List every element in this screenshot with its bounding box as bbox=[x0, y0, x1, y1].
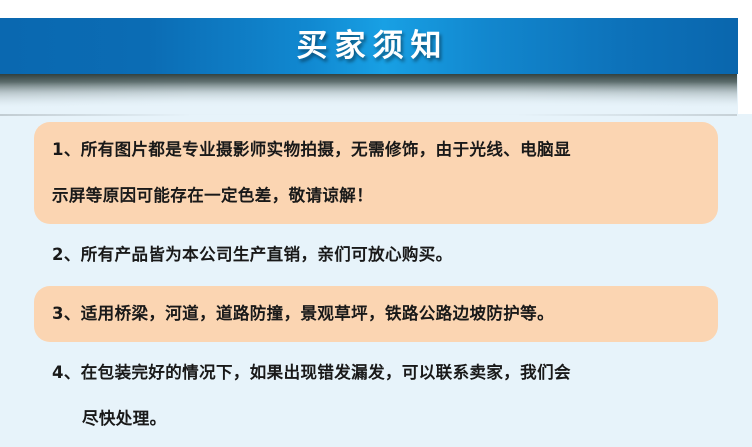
notice-list: 1、所有图片都是专业摄影师实物拍摄，无需修饰，由于光线、电脑显 示屏等原因可能存… bbox=[0, 122, 752, 447]
banner-shadow-fade bbox=[0, 82, 752, 114]
page-title: 买家须知 bbox=[0, 18, 738, 74]
notice-item-1-line-2: 示屏等原因可能存在一定色差，敬请谅解！ bbox=[52, 173, 700, 219]
notice-item-2: 2、所有产品皆为本公司生产直销，亲们可放心购买。 bbox=[34, 227, 718, 283]
buyer-notice-page: 买家须知 1、所有图片都是专业摄影师实物拍摄，无需修饰，由于光线、电脑显 示屏等… bbox=[0, 0, 752, 447]
notice-item-1: 1、所有图片都是专业摄影师实物拍摄，无需修饰，由于光线、电脑显 示屏等原因可能存… bbox=[34, 122, 718, 224]
notice-item-2-line-1: 2、所有产品皆为本公司生产直销，亲们可放心购买。 bbox=[52, 232, 700, 278]
notice-item-1-line-1: 1、所有图片都是专业摄影师实物拍摄，无需修饰，由于光线、电脑显 bbox=[52, 127, 700, 173]
header-banner: 买家须知 bbox=[0, 18, 738, 74]
notice-item-3: 3、适用桥梁，河道，道路防撞，景观草坪，铁路公路边坡防护等。 bbox=[34, 286, 718, 342]
notice-item-3-line-1: 3、适用桥梁，河道，道路防撞，景观草坪，铁路公路边坡防护等。 bbox=[52, 291, 700, 337]
notice-item-4-line-2: 尽快处理。 bbox=[52, 396, 700, 442]
notice-item-4-line-1: 4、在包装完好的情况下，如果出现错发漏发，可以联系卖家，我们会 bbox=[52, 350, 700, 396]
notice-item-4: 4、在包装完好的情况下，如果出现错发漏发，可以联系卖家，我们会 尽快处理。 bbox=[34, 345, 718, 447]
top-white-strip bbox=[0, 0, 752, 18]
right-white-gutter bbox=[738, 0, 752, 114]
